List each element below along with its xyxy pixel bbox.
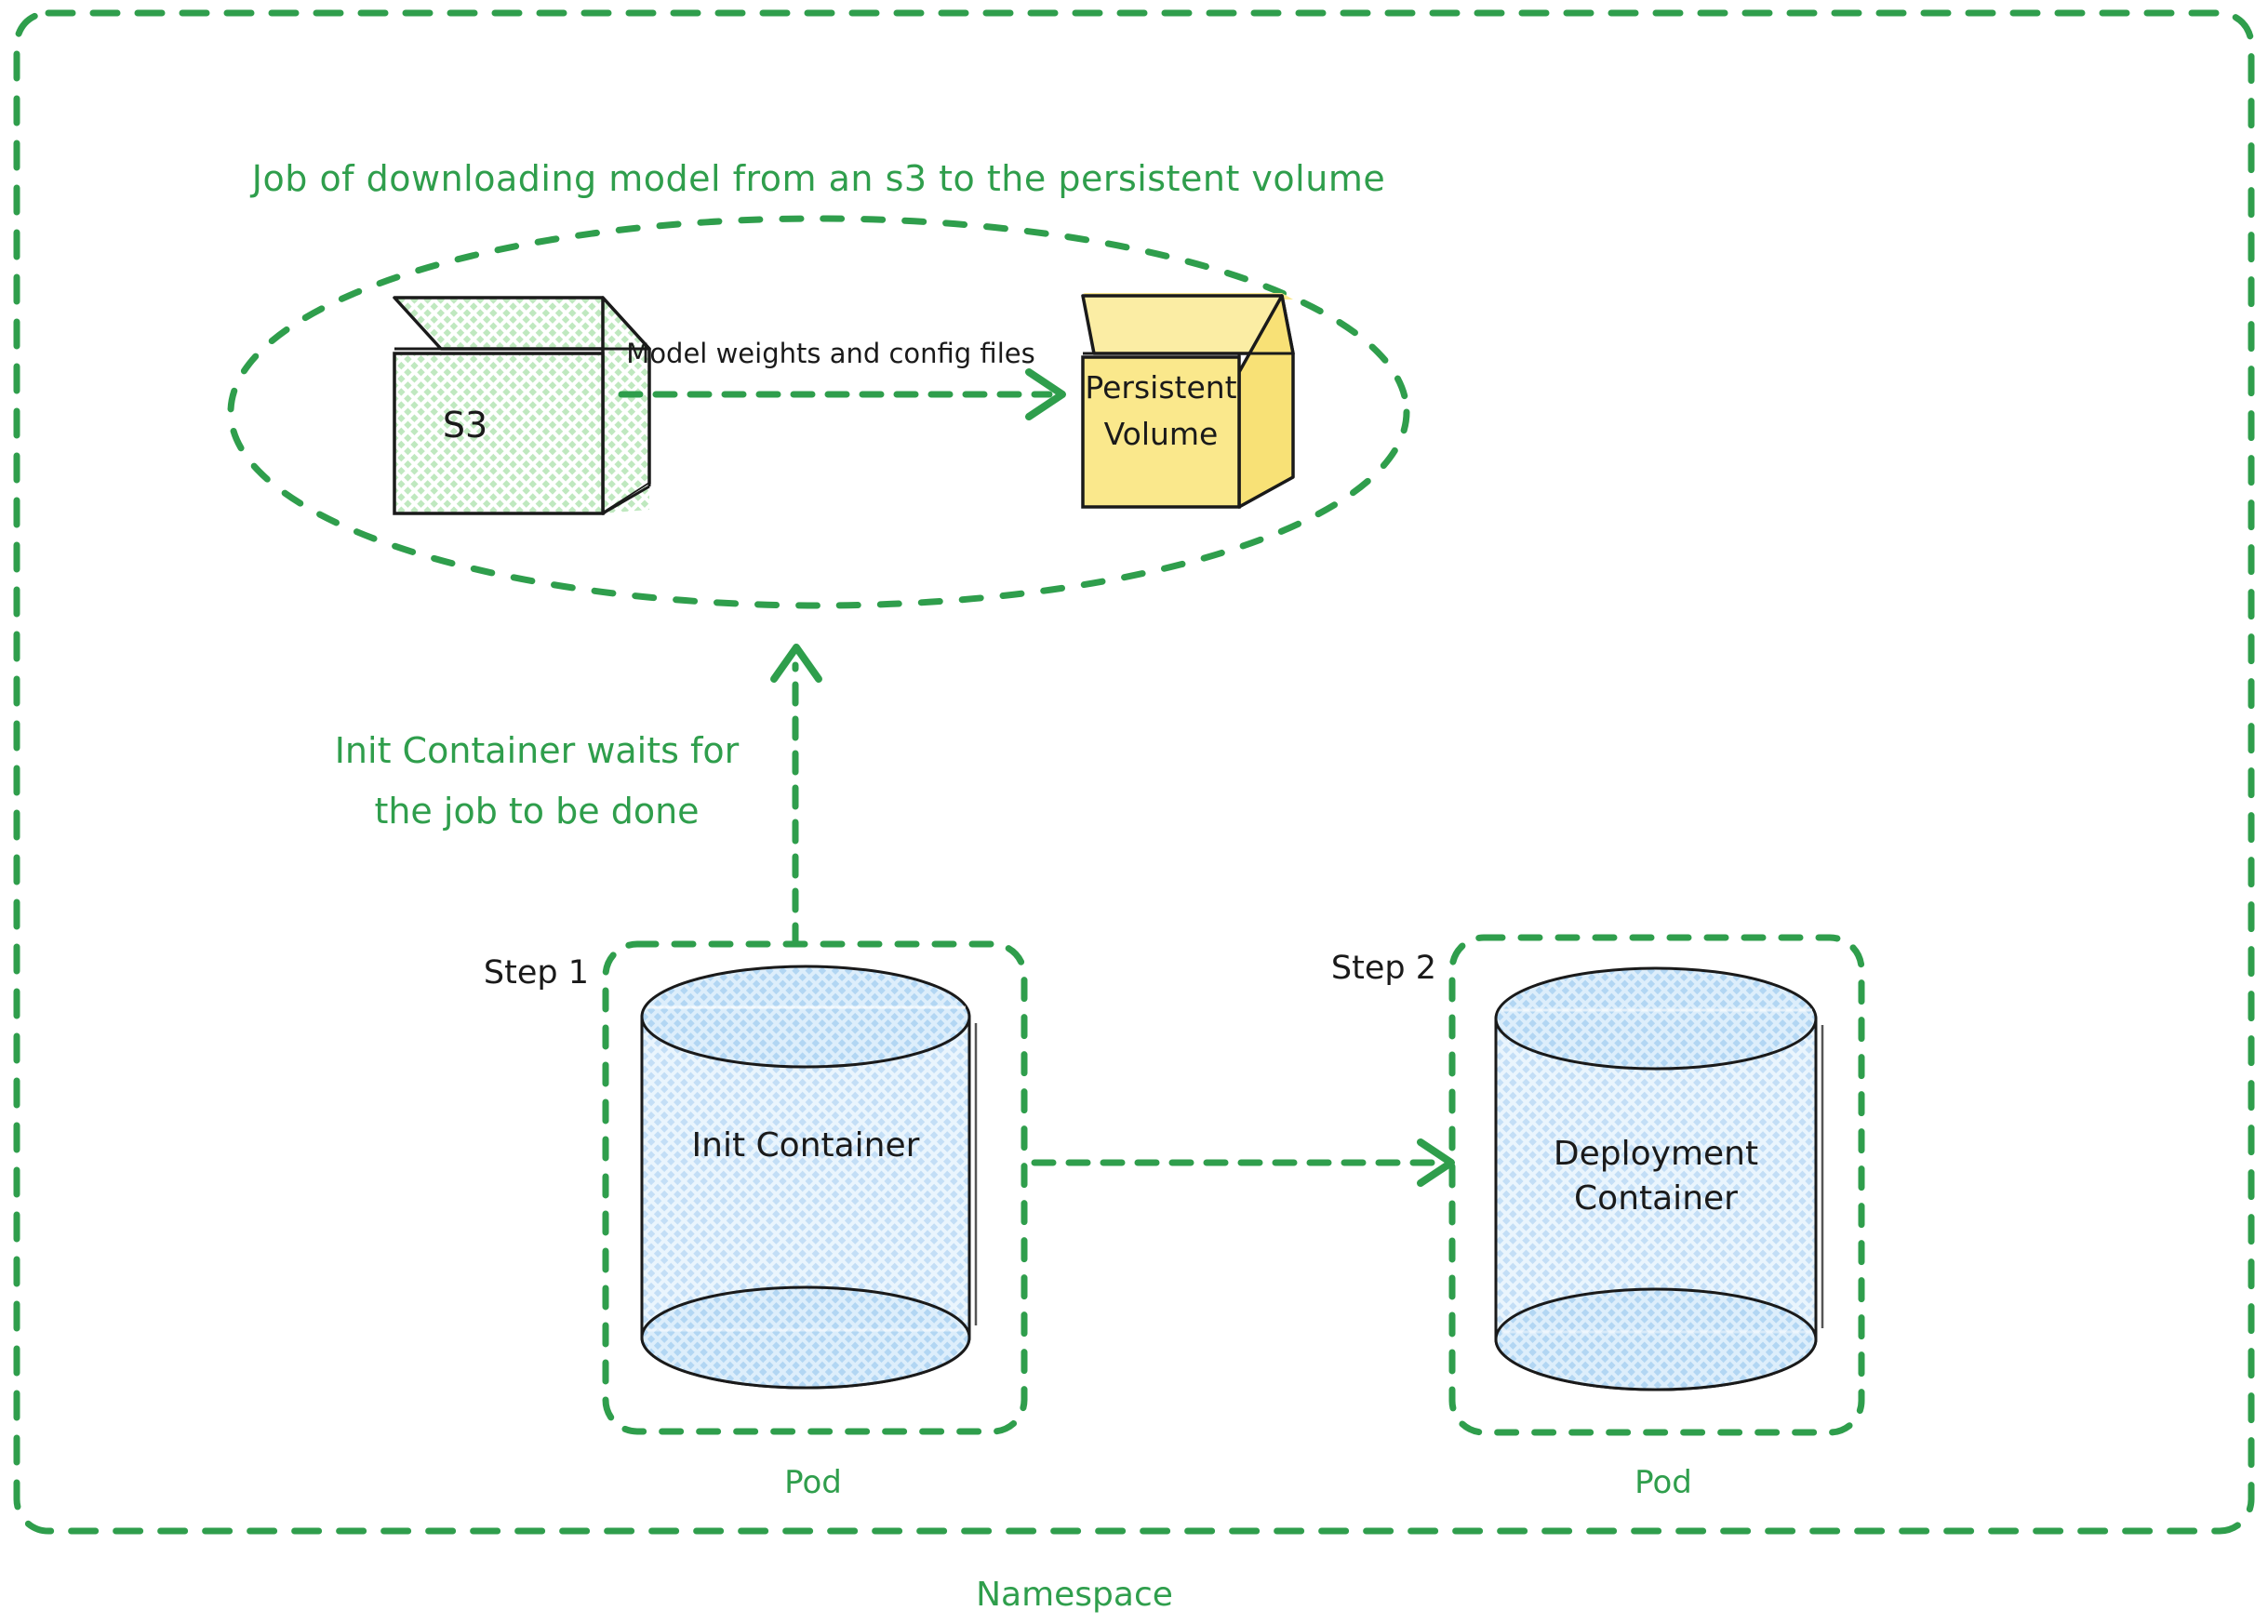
init-container-cylinder	[642, 966, 976, 1388]
edge-init-to-deployment	[1034, 1142, 1451, 1183]
diagram-canvas: Job of downloading model from an s3 to t…	[0, 0, 2268, 1624]
pod-label-1: Pod	[784, 1464, 842, 1501]
deployment-container-label-line1: Deployment	[1554, 1135, 1758, 1173]
edge-s3-to-pv-label: Model weights and config files	[626, 338, 1034, 369]
step-2-label: Step 2	[1331, 950, 1436, 987]
step-1-label: Step 1	[484, 954, 589, 992]
edge-init-wait-label-line1: Init Container waits for	[335, 730, 740, 771]
persistent-volume-label-line1: Persistent	[1085, 369, 1236, 406]
namespace-label: Namespace	[976, 1576, 1173, 1614]
persistent-volume-label-line2: Volume	[1104, 416, 1219, 452]
s3-label: S3	[443, 405, 487, 446]
edge-init-wait-label-line2: the job to be done	[374, 791, 699, 832]
edge-init-container-to-job	[774, 647, 819, 944]
s3-cube	[394, 298, 649, 513]
init-container-label: Init Container	[692, 1126, 920, 1165]
deployment-container-label-line2: Container	[1574, 1179, 1738, 1218]
namespace-boundary	[17, 13, 2251, 1531]
edge-s3-to-persistent-volume	[621, 372, 1062, 417]
job-group-title: Job of downloading model from an s3 to t…	[250, 158, 1385, 199]
pod-label-2: Pod	[1634, 1464, 1692, 1501]
kubernetes-architecture-diagram: Job of downloading model from an s3 to t…	[0, 0, 2268, 1624]
